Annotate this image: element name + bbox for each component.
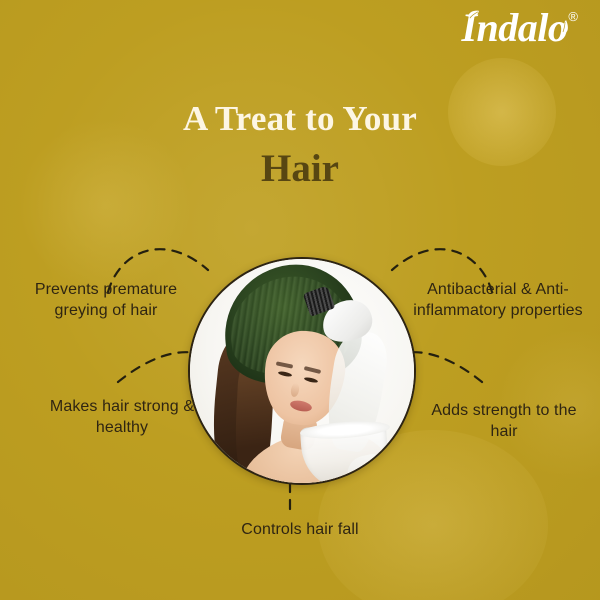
- benefit-label-controls-hair-fall: Controls hair fall: [200, 519, 400, 540]
- benefit-label-strong-healthy: Makes hair strong & healthy: [46, 396, 198, 438]
- benefit-label-adds-strength: Adds strength to the hair: [422, 400, 586, 442]
- benefit-label-antibacterial: Antibacterial & Anti-inflammatory proper…: [402, 279, 594, 321]
- benefit-label-prevents-greying: Prevents premature greying of hair: [16, 279, 196, 321]
- leaf-icon: [467, 10, 480, 20]
- headline-line-2: Hair: [0, 148, 600, 191]
- poster-canvas: Indalo ® A Treat to Your Hair: [0, 0, 600, 600]
- headline-line-1: A Treat to Your: [0, 100, 600, 139]
- leaf-icon: [560, 20, 572, 36]
- page-title: A Treat to Your Hair: [0, 100, 600, 190]
- hero-photo-circle: [188, 257, 416, 485]
- brand-logo: Indalo ®: [461, 8, 578, 48]
